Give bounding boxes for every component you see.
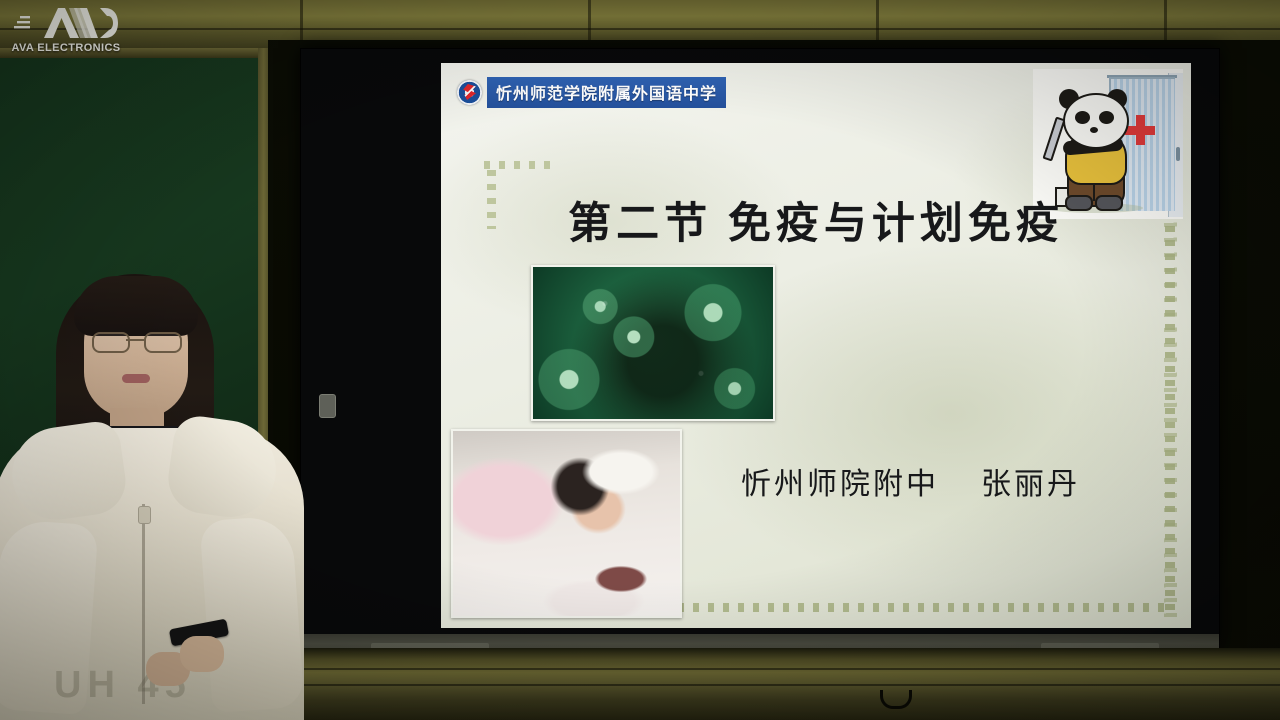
teacher-presenter: UH 45 [0,268,306,720]
classroom-scene: 忻州师范学院附属外国语中学 [0,0,1280,720]
display-screen[interactable]: 忻州师范学院附属外国语中学 [441,63,1191,628]
slide-author-line: 忻州师院附中 张丽丹 [741,459,1161,503]
slide-header: 忻州师范学院附属外国语中学 [457,77,726,108]
play-sensor-icon[interactable] [319,394,336,418]
ava-logo-icon [14,6,118,42]
red-cross-icon [1125,115,1155,145]
seewo-display-panel[interactable]: 忻州师范学院附属外国语中学 [300,48,1220,650]
school-name-banner: 忻州师范学院附属外国语中学 [487,77,726,108]
ava-watermark: AVA ELECTRONICS [8,6,124,60]
presentation-slide: 忻州师范学院附属外国语中学 [441,63,1191,628]
school-name-text: 忻州师范学院附属外国语中学 [496,80,717,104]
vine-accent-top-left-2 [481,161,551,169]
slide-title: 第二节 免疫与计划免疫 [441,189,1191,251]
virus-micrograph-image [531,265,775,421]
ava-watermark-text: AVA ELECTRONICS [8,42,124,54]
school-emblem-icon [457,80,482,105]
nurse-newborn-image [451,429,682,618]
glasses-icon [92,332,130,353]
